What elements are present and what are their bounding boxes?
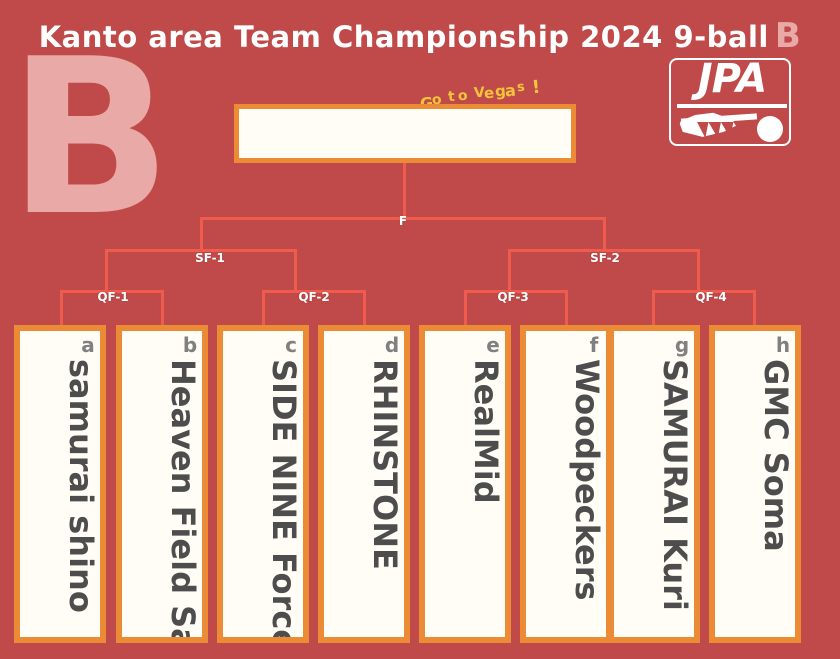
tagline: GotoVegas! <box>420 78 610 104</box>
bracket-line-sf1-stem <box>200 217 203 251</box>
bracket-line-team-g-stem <box>652 290 655 325</box>
team-name-h: GMC Soma <box>715 359 795 637</box>
team-name-c: SIDE NINE Force <box>223 359 303 637</box>
team-letter-e: e <box>425 333 505 357</box>
champion-box[interactable] <box>234 104 576 163</box>
watermark-letter: B <box>8 38 148 248</box>
team-name-d: RHINSTONE <box>324 359 404 637</box>
team-letter-h: h <box>715 333 795 357</box>
billiard-ball-icon <box>757 116 783 142</box>
round-label-final: F <box>399 214 407 228</box>
bracket-line-sf2-stem <box>603 217 606 251</box>
team-name-a: samurai shino <box>20 359 100 637</box>
bracket-line-team-a-stem <box>60 290 63 325</box>
page-title-division: B <box>775 16 801 56</box>
round-label-qf-2: QF-2 <box>298 290 329 304</box>
round-label-sf-1: SF-1 <box>195 251 225 265</box>
team-name-e: RealMid <box>425 359 505 637</box>
team-name-f: Woodpeckers <box>526 359 606 637</box>
team-box-b[interactable]: b Heaven Field Saturn <box>116 325 208 643</box>
bracket-line-team-e-stem <box>464 290 467 325</box>
round-label-sf-2: SF-2 <box>590 251 620 265</box>
tournament-bracket-poster: B Kanto area Team Championship 2024 9-ba… <box>0 0 840 659</box>
bracket-line-team-c-stem <box>262 290 265 325</box>
round-label-qf-4: QF-4 <box>695 290 726 304</box>
bracket-line-final-stem <box>403 163 406 219</box>
bracket-line-team-f-stem <box>565 290 568 325</box>
round-label-qf-1: QF-1 <box>97 290 128 304</box>
bracket-line-team-h-stem <box>753 290 756 325</box>
team-letter-b: b <box>122 333 202 357</box>
team-box-h[interactable]: h GMC Soma <box>709 325 801 643</box>
round-label-qf-3: QF-3 <box>497 290 528 304</box>
team-box-d[interactable]: d RHINSTONE <box>318 325 410 643</box>
bracket-line-qf2-stem <box>294 249 297 292</box>
jpa-logo-text: JPA <box>671 58 791 102</box>
team-name-b: Heaven Field Saturn <box>122 359 202 637</box>
bracket-line-qf3-stem <box>508 249 511 292</box>
bracket-line-qf1-stem <box>105 249 108 292</box>
page-title-text: Kanto area Team Championship 2024 9-ball <box>39 20 769 54</box>
team-letter-f: f <box>526 333 606 357</box>
team-letter-d: d <box>324 333 404 357</box>
jpa-logo-divider <box>677 104 787 108</box>
team-letter-g: g <box>614 333 694 357</box>
team-box-a[interactable]: a samurai shino <box>14 325 106 643</box>
team-box-g[interactable]: g SAMURAI Kuri <box>608 325 700 643</box>
team-name-g: SAMURAI Kuri <box>614 359 694 637</box>
team-letter-a: a <box>20 333 100 357</box>
jpa-logo: JPA <box>669 58 791 146</box>
team-box-e[interactable]: e RealMid <box>419 325 511 643</box>
bracket-line-team-b-stem <box>161 290 164 325</box>
team-letter-c: c <box>223 333 303 357</box>
team-box-f[interactable]: f Woodpeckers <box>520 325 612 643</box>
bracket-line-qf4-stem <box>697 249 700 292</box>
bracket-line-team-d-stem <box>363 290 366 325</box>
page-title: Kanto area Team Championship 2024 9-ball… <box>0 16 840 56</box>
team-box-c[interactable]: c SIDE NINE Force <box>217 325 309 643</box>
